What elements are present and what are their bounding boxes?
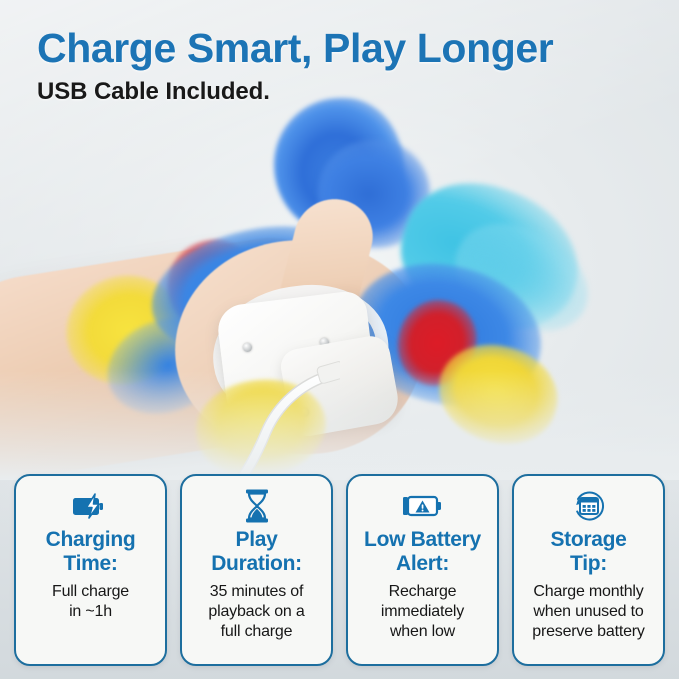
feature-card-storage-tip[interactable]: Storage Tip: Charge monthly when unused … [512, 474, 665, 666]
title-line: Low Battery [364, 528, 481, 551]
title-line: Tip: [570, 552, 607, 575]
headline-block: Charge Smart, Play Longer USB Cable Incl… [37, 24, 553, 106]
feature-card-title: Play Duration: [211, 528, 302, 576]
body-line: when low [390, 623, 455, 640]
title-line: Time: [63, 552, 117, 575]
battery-charging-icon [71, 487, 111, 525]
body-line: when unused to [533, 603, 643, 620]
calendar-refresh-icon [570, 487, 608, 525]
feature-card-body: 35 minutes of playback on a full charge [208, 582, 304, 642]
battery-warning-icon [401, 487, 445, 525]
feature-card-play-duration[interactable]: Play Duration: 35 minutes of playback on… [180, 474, 333, 666]
body-line: immediately [381, 603, 464, 620]
hourglass-icon [242, 487, 272, 525]
product-photo [0, 90, 679, 480]
body-line: playback on a [208, 603, 304, 620]
feature-card-body: Charge monthly when unused to preserve b… [532, 582, 644, 642]
feature-card-title: Charging Time: [46, 528, 136, 576]
feature-card-low-battery-alert[interactable]: Low Battery Alert: Recharge immediately … [346, 474, 499, 666]
feature-card-row: Charging Time: Full charge in ~1h Pla [14, 474, 665, 666]
usb-cable [40, 280, 340, 480]
page-subtitle: USB Cable Included. [37, 78, 553, 106]
title-line: Storage [550, 528, 626, 551]
feature-card-title: Low Battery Alert: [364, 528, 481, 576]
feature-card-title: Storage Tip: [550, 528, 626, 576]
title-line: Charging [46, 528, 136, 551]
body-line: Full charge [52, 583, 129, 600]
title-line: Alert: [396, 552, 449, 575]
page-title: Charge Smart, Play Longer [37, 24, 553, 72]
feature-card-body: Recharge immediately when low [381, 582, 464, 642]
feature-card-body: Full charge in ~1h [52, 582, 129, 622]
feature-card-charging-time[interactable]: Charging Time: Full charge in ~1h [14, 474, 167, 666]
title-line: Play [236, 528, 278, 551]
body-line: full charge [221, 623, 293, 640]
title-line: Duration: [211, 552, 302, 575]
body-line: 35 minutes of [210, 583, 303, 600]
body-line: Recharge [389, 583, 457, 600]
body-line: preserve battery [532, 623, 644, 640]
product-infographic: Charge Smart, Play Longer USB Cable Incl… [0, 0, 679, 679]
body-line: Charge monthly [533, 583, 643, 600]
body-line: in ~1h [69, 603, 112, 620]
